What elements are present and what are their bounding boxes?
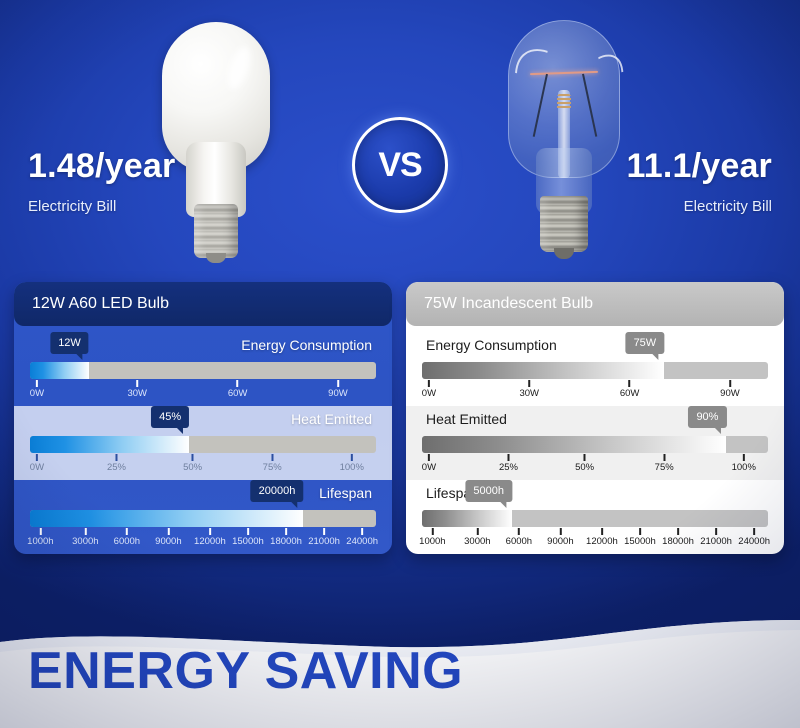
tick-mark-icon [36, 454, 38, 461]
filament-coil [557, 94, 571, 110]
vs-badge-label: VS [378, 146, 421, 185]
tick-mark-icon [285, 528, 287, 535]
tick-label: 30W [127, 388, 147, 399]
incandescent-axis-tick: 12000h [586, 528, 618, 547]
tick-label: 3000h [464, 536, 490, 547]
incandescent-bar-fill [422, 436, 726, 453]
tick-label: 75% [655, 462, 674, 473]
tick-mark-icon [361, 528, 363, 535]
incandescent-row-2-header: Heat Emitted90% [422, 406, 768, 436]
incandescent-electricity-cost-caption: Electricity Bill [684, 198, 772, 215]
tick-label: 75% [263, 462, 282, 473]
hero-section: 1.48/year Electricity Bill 11.1/year Ele… [0, 0, 800, 270]
tick-mark-icon [639, 528, 641, 535]
incandescent-axis-tick: 15000h [624, 528, 656, 547]
led-axis-tick: 0W [30, 380, 44, 399]
tick-mark-icon [601, 528, 603, 535]
incandescent-bar-fill [422, 510, 512, 527]
led-metric-label: Energy Consumption [241, 337, 372, 353]
tick-label: 90W [720, 388, 740, 399]
led-bar-track [30, 362, 376, 379]
incandescent-electricity-cost: 11.1/year [626, 147, 772, 186]
incandescent-panel-title: 75W Incandescent Bulb [406, 282, 784, 326]
led-bulb-contact-tip [206, 253, 226, 263]
tick-label: 25% [107, 462, 126, 473]
led-value-tag: 20000h [251, 480, 304, 502]
incandescent-axis-tick: 60W [620, 380, 640, 399]
led-metric-label: Lifespan [319, 485, 372, 501]
led-axis-tick: 12000h [194, 528, 226, 547]
tick-mark-icon [167, 528, 169, 535]
led-axis-tick: 21000h [308, 528, 340, 547]
incandescent-axis: 0W25%50%75%100% [422, 454, 768, 476]
led-panel-title: 12W A60 LED Bulb [14, 282, 392, 326]
led-axis-tick: 90W [328, 380, 348, 399]
tick-mark-icon [237, 380, 239, 387]
tick-mark-icon [518, 528, 520, 535]
led-axis-tick: 75% [263, 454, 282, 473]
tick-label: 15000h [232, 536, 264, 547]
tick-mark-icon [663, 454, 665, 461]
tick-label: 50% [183, 462, 202, 473]
tick-label: 60W [228, 388, 248, 399]
led-axis-tick: 3000h [72, 528, 98, 547]
incandescent-axis-tick: 0W [422, 380, 436, 399]
tick-label: 24000h [346, 536, 378, 547]
led-bar-fill [30, 510, 303, 527]
led-axis-tick: 0W [30, 454, 44, 473]
led-bulb-screw-base [194, 204, 238, 258]
incandescent-row-3-header: Lifespan5000h [422, 480, 768, 510]
incandescent-axis-tick: 3000h [464, 528, 490, 547]
incandescent-axis-tick: 0W [422, 454, 436, 473]
tick-mark-icon [507, 454, 509, 461]
tick-mark-icon [271, 454, 273, 461]
led-bulb-image [152, 22, 280, 262]
tick-mark-icon [476, 528, 478, 535]
tick-mark-icon [559, 528, 561, 535]
incandescent-bulb-image [500, 20, 628, 265]
tick-label: 30W [519, 388, 539, 399]
led-spec-panel: 12W A60 LED Bulb Energy Consumption12W0W… [14, 282, 392, 554]
incandescent-value-tag: 90% [688, 406, 726, 428]
tick-mark-icon [629, 380, 631, 387]
tick-mark-icon [247, 528, 249, 535]
incandescent-axis-tick: 50% [575, 454, 594, 473]
tick-mark-icon [715, 528, 717, 535]
led-axis-tick: 1000h [27, 528, 53, 547]
tick-mark-icon [428, 380, 430, 387]
led-row-1-header: Energy Consumption12W [30, 332, 376, 362]
led-axis: 0W30W60W90W [30, 380, 376, 402]
incandescent-axis-tick: 1000h [419, 528, 445, 547]
tick-mark-icon [351, 454, 353, 461]
led-axis-tick: 30W [127, 380, 147, 399]
led-metric-label: Heat Emitted [291, 411, 372, 427]
tick-label: 21000h [700, 536, 732, 547]
incandescent-row-1: Energy Consumption75W0W30W60W90W [406, 332, 784, 406]
tick-label: 15000h [624, 536, 656, 547]
tick-label: 100% [340, 462, 364, 473]
tick-label: 6000h [506, 536, 532, 547]
incandescent-axis-tick: 21000h [700, 528, 732, 547]
incandescent-axis-tick: 18000h [662, 528, 694, 547]
tick-label: 18000h [270, 536, 302, 547]
tick-label: 1000h [27, 536, 53, 547]
tick-mark-icon [115, 454, 117, 461]
incandescent-bar-track [422, 436, 768, 453]
incandescent-bar-track [422, 362, 768, 379]
tick-mark-icon [84, 528, 86, 535]
tick-mark-icon [323, 528, 325, 535]
tick-label: 90W [328, 388, 348, 399]
led-axis-tick: 25% [107, 454, 126, 473]
incandescent-spec-panel: 75W Incandescent Bulb Energy Consumption… [406, 282, 784, 554]
led-axis-tick: 18000h [270, 528, 302, 547]
tick-mark-icon [729, 380, 731, 387]
led-bar-fill [30, 362, 89, 379]
incandescent-panel-rows: Energy Consumption75W0W30W60W90WHeat Emi… [406, 326, 784, 554]
led-row-3-header: Lifespan20000h [30, 480, 376, 510]
led-axis-tick: 9000h [155, 528, 181, 547]
tick-mark-icon [428, 454, 430, 461]
tick-mark-icon [677, 528, 679, 535]
tick-label: 9000h [547, 536, 573, 547]
tick-mark-icon [126, 528, 128, 535]
tick-mark-icon [136, 380, 138, 387]
incandescent-bar-track [422, 510, 768, 527]
led-value-tag: 12W [50, 332, 89, 354]
incandescent-axis-tick: 24000h [738, 528, 770, 547]
led-row-1: Energy Consumption12W0W30W60W90W [14, 332, 392, 406]
led-row-2: Heat Emitted45%0W25%50%75%100% [14, 406, 392, 480]
led-axis-tick: 6000h [114, 528, 140, 547]
led-bar-fill [30, 436, 189, 453]
led-row-3: Lifespan20000h1000h3000h6000h9000h12000h… [14, 480, 392, 554]
incandescent-metric-label: Heat Emitted [426, 411, 507, 427]
led-value-tag: 45% [151, 406, 189, 428]
incandescent-axis: 1000h3000h6000h9000h12000h15000h18000h21… [422, 528, 768, 550]
tick-label: 21000h [308, 536, 340, 547]
tick-label: 0W [422, 462, 436, 473]
tick-label: 12000h [586, 536, 618, 547]
tick-label: 0W [30, 388, 44, 399]
tick-label: 60W [620, 388, 640, 399]
vs-badge: VS [352, 117, 448, 213]
infographic-root: 1.48/year Electricity Bill 11.1/year Ele… [0, 0, 800, 728]
tick-label: 100% [732, 462, 756, 473]
banner-headline: ENERGY SAVING [0, 641, 463, 707]
incandescent-axis-tick: 9000h [547, 528, 573, 547]
led-electricity-cost: 1.48/year [28, 147, 175, 186]
led-axis: 1000h3000h6000h9000h12000h15000h18000h21… [30, 528, 376, 550]
tick-label: 9000h [155, 536, 181, 547]
incandescent-contact-tip [554, 248, 574, 259]
incandescent-screw-base [540, 196, 588, 252]
incandescent-axis-tick: 75% [655, 454, 674, 473]
tick-mark-icon [209, 528, 211, 535]
tick-label: 12000h [194, 536, 226, 547]
led-axis-tick: 60W [228, 380, 248, 399]
tick-mark-icon [192, 454, 194, 461]
led-axis-tick: 100% [340, 454, 364, 473]
incandescent-row-2: Heat Emitted90%0W25%50%75%100% [406, 406, 784, 480]
led-row-2-header: Heat Emitted45% [30, 406, 376, 436]
tick-mark-icon [431, 528, 433, 535]
incandescent-axis: 0W30W60W90W [422, 380, 768, 402]
energy-saving-banner: ENERGY SAVING [0, 620, 800, 728]
incandescent-row-1-header: Energy Consumption75W [422, 332, 768, 362]
tick-label: 6000h [114, 536, 140, 547]
incandescent-value-tag: 75W [626, 332, 665, 354]
tick-label: 1000h [419, 536, 445, 547]
tick-label: 25% [499, 462, 518, 473]
tick-label: 50% [575, 462, 594, 473]
incandescent-axis-tick: 6000h [506, 528, 532, 547]
incandescent-metric-label: Energy Consumption [426, 337, 557, 353]
tick-mark-icon [39, 528, 41, 535]
tick-mark-icon [743, 454, 745, 461]
incandescent-axis-tick: 100% [732, 454, 756, 473]
led-panel-rows: Energy Consumption12W0W30W60W90WHeat Emi… [14, 326, 392, 554]
tick-mark-icon [36, 380, 38, 387]
led-axis-tick: 15000h [232, 528, 264, 547]
led-axis: 0W25%50%75%100% [30, 454, 376, 476]
tick-label: 24000h [738, 536, 770, 547]
led-bar-track [30, 436, 376, 453]
led-electricity-cost-caption: Electricity Bill [28, 198, 116, 215]
tick-mark-icon [584, 454, 586, 461]
tick-mark-icon [753, 528, 755, 535]
tick-label: 3000h [72, 536, 98, 547]
led-axis-tick: 50% [183, 454, 202, 473]
tick-label: 0W [30, 462, 44, 473]
tick-mark-icon [528, 380, 530, 387]
tick-label: 18000h [662, 536, 694, 547]
incandescent-axis-tick: 30W [519, 380, 539, 399]
led-axis-tick: 24000h [346, 528, 378, 547]
tick-label: 0W [422, 388, 436, 399]
incandescent-bar-fill [422, 362, 664, 379]
incandescent-axis-tick: 25% [499, 454, 518, 473]
incandescent-axis-tick: 90W [720, 380, 740, 399]
incandescent-value-tag: 5000h [465, 480, 512, 502]
tick-mark-icon [337, 380, 339, 387]
led-bar-track [30, 510, 376, 527]
incandescent-row-3: Lifespan5000h1000h3000h6000h9000h12000h1… [406, 480, 784, 554]
